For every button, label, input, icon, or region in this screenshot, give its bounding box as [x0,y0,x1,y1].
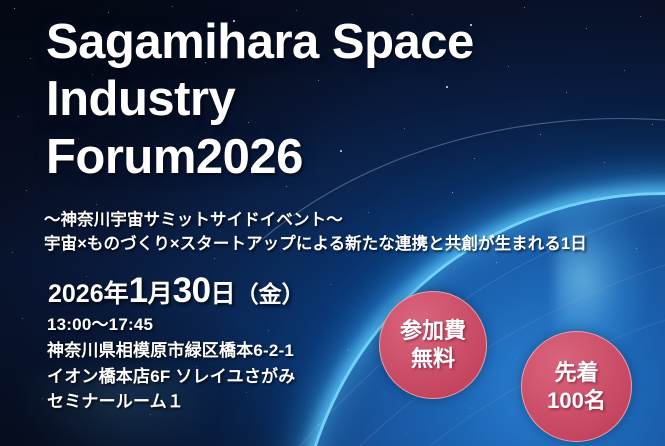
event-details: 13:00〜17:45 神奈川県相模原市緑区橋本6-2-1 イオン橋本店6F ソ… [47,312,295,415]
date-day-of-week: （金） [236,281,305,307]
date-day: 30 [173,271,211,310]
date-month: 1 [129,271,148,310]
date-day-unit: 日 [211,280,236,308]
badge-capacity-value: 100名 [547,388,606,414]
event-date: 2026年1月30日（金） [48,271,305,311]
badge-capacity: 先着 100名 [521,331,632,442]
badge-fee-value: 無料 [411,346,455,372]
event-subtitle: ～神奈川宇宙サミットサイドイベント～ 宇宙×ものづくり×スタートアップによる新た… [44,209,587,257]
badge-fee-label: 参加費 [400,318,466,344]
date-month-unit: 月 [148,280,173,308]
page-title: Sagamihara Space Industry Forum2026 [46,14,646,186]
event-poster: Sagamihara Space Industry Forum2026 ～神奈川… [0,0,665,446]
date-year: 2026年 [48,280,129,308]
badge-capacity-label: 先着 [554,360,598,386]
badge-participation-fee: 参加費 無料 [379,291,487,399]
